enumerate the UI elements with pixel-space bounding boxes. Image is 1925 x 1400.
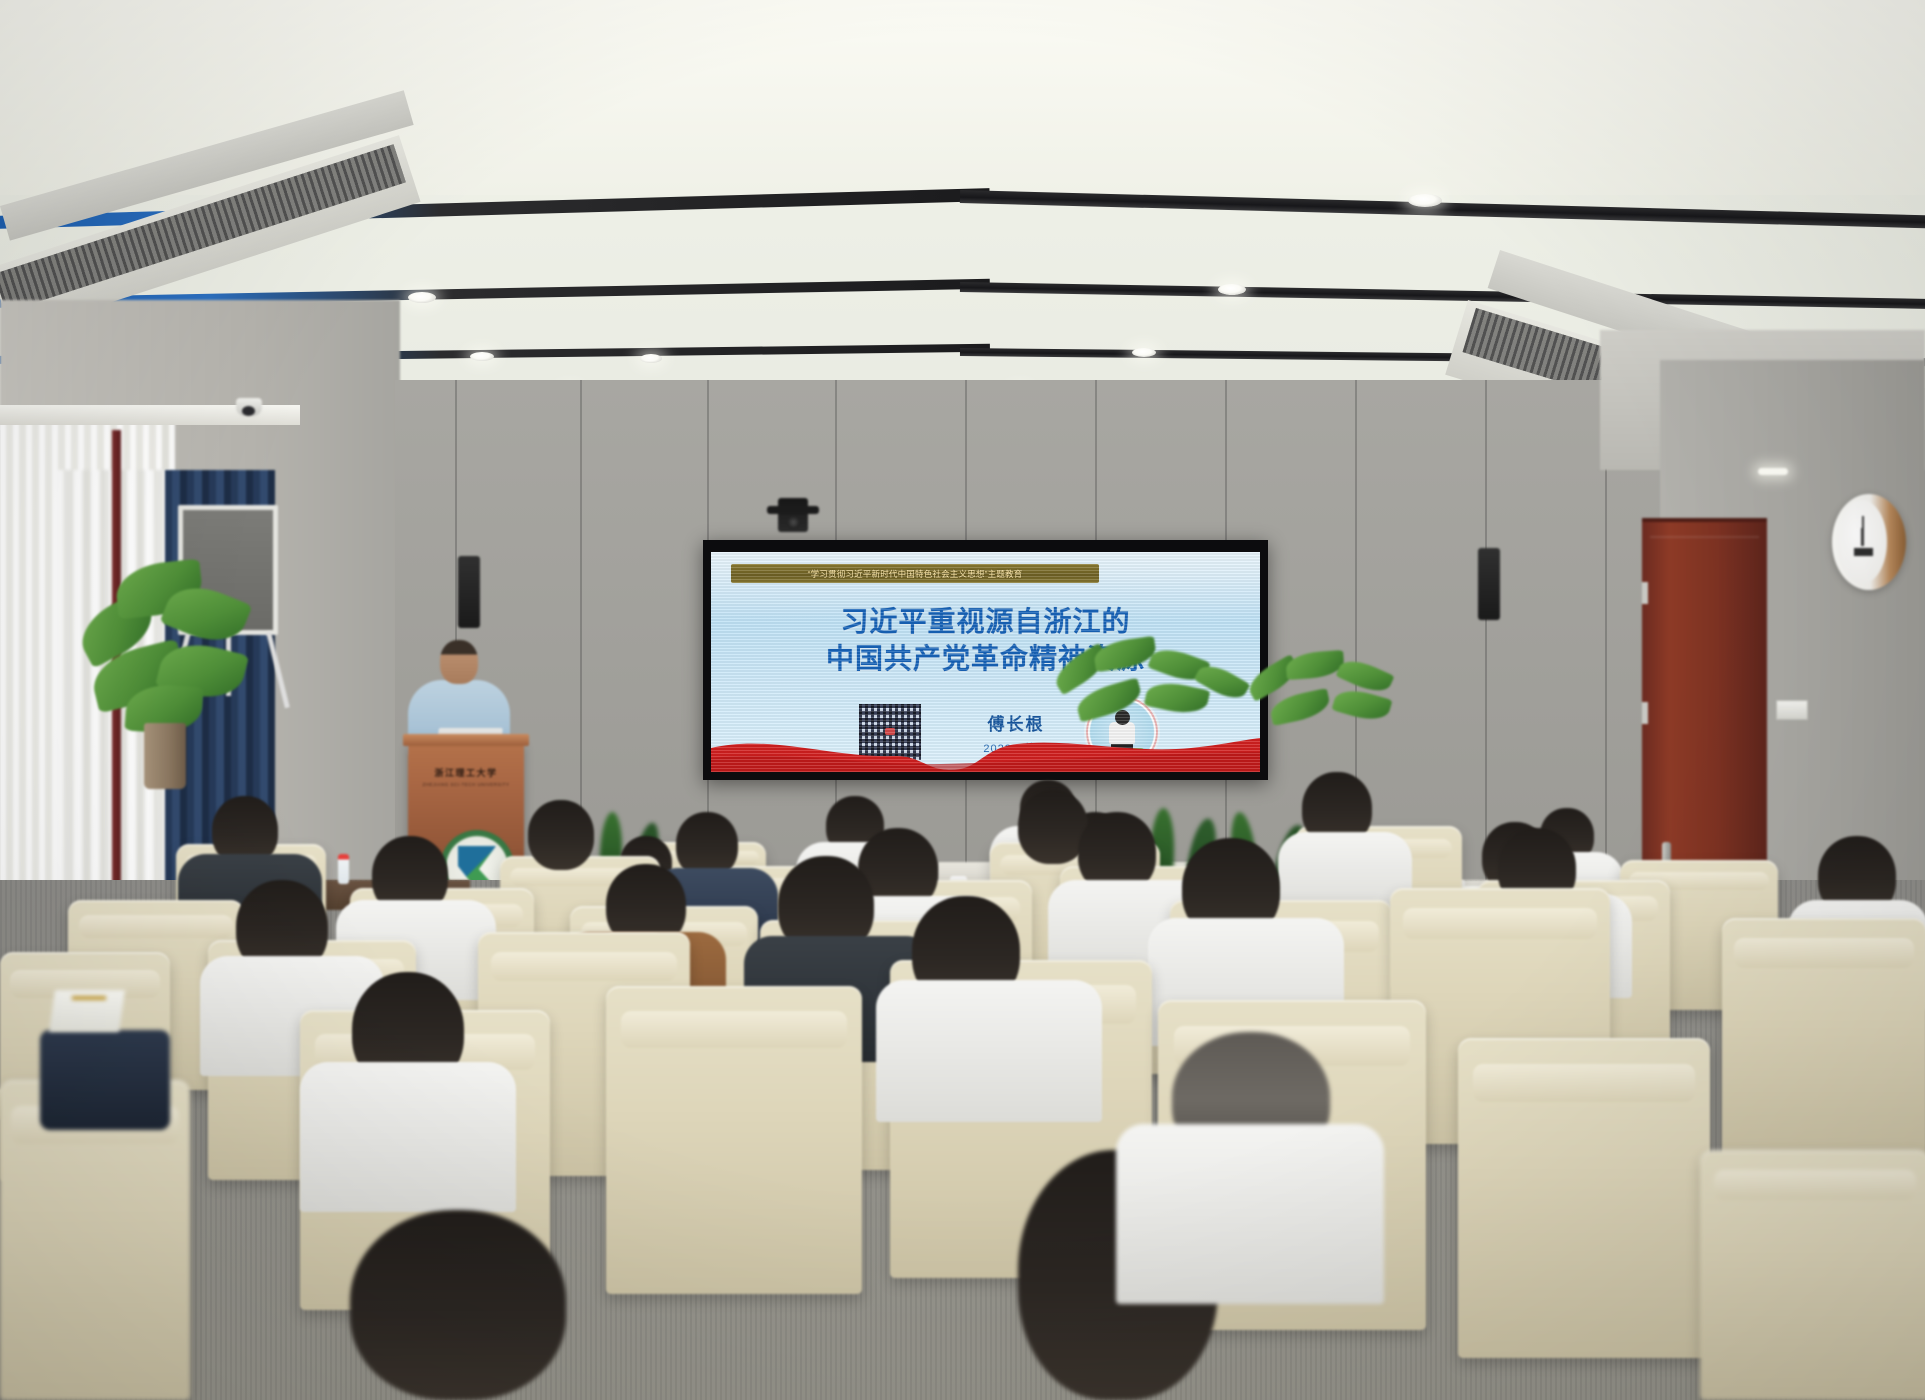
presenter-head bbox=[440, 640, 478, 684]
chair[interactable] bbox=[1722, 918, 1925, 1168]
pen bbox=[72, 996, 106, 1000]
potted-plant bbox=[1046, 632, 1256, 752]
audience-head bbox=[528, 800, 594, 870]
downlight bbox=[640, 354, 662, 363]
downlight bbox=[408, 292, 436, 303]
chair[interactable] bbox=[1700, 1150, 1925, 1400]
light-switch[interactable] bbox=[1776, 700, 1808, 720]
podium-institution-cn: 浙江理工大学 bbox=[408, 766, 524, 779]
downlight bbox=[1218, 284, 1246, 295]
chair[interactable] bbox=[1458, 1038, 1710, 1358]
slide-banner-text: “学习贯彻习近平新时代中国特色社会主义思想”主题教育 bbox=[731, 564, 1099, 583]
bag bbox=[40, 1030, 170, 1130]
podium-institution-en: ZHEJIANG SCI-TECH UNIVERSITY bbox=[408, 782, 524, 787]
downlight bbox=[1132, 348, 1156, 357]
wall-speaker bbox=[1478, 548, 1500, 620]
cctv-camera-icon bbox=[236, 398, 262, 416]
wall-speaker bbox=[458, 556, 480, 628]
downlight bbox=[470, 352, 494, 361]
ceiling-light-strip bbox=[960, 282, 1925, 309]
foreground-head bbox=[350, 1210, 566, 1400]
recessed-wall-light bbox=[1758, 468, 1788, 475]
potted-plant bbox=[70, 545, 270, 775]
audience-torso bbox=[300, 1062, 516, 1212]
conference-room-photo: “学习贯彻习近平新时代中国特色社会主义思想”主题教育 习近平重视源自浙江的 中国… bbox=[0, 0, 1925, 1400]
ceiling-light-strip bbox=[960, 190, 1925, 229]
downlight bbox=[1408, 194, 1442, 207]
ceiling-projector bbox=[778, 498, 808, 532]
foreground-torso bbox=[1116, 1124, 1384, 1304]
audience-torso bbox=[876, 980, 1102, 1122]
wall-clock-icon bbox=[1832, 494, 1906, 590]
water-bottle bbox=[338, 854, 349, 884]
potted-plant bbox=[1242, 646, 1422, 756]
chair[interactable] bbox=[606, 986, 862, 1294]
